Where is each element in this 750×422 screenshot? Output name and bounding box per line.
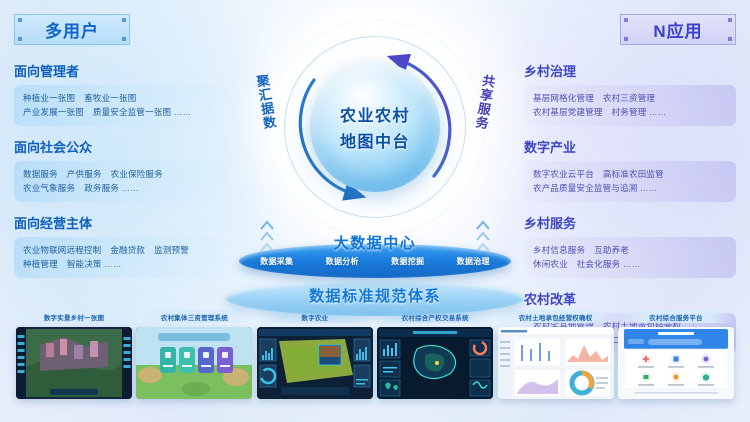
standards-title: 数据标准规范体系 xyxy=(248,285,502,306)
thumbnail-image-aerial-village xyxy=(16,327,132,399)
item-tag: 农业保险服务 xyxy=(111,169,163,179)
item-tag: 产业发展一张图 xyxy=(23,107,84,117)
item-tag: 产供服务 xyxy=(67,169,102,179)
left-panel: 多用户 面向管理者 种植业一张图畜牧业一张图 产业发展一张图质量安全监管一张图 … xyxy=(14,14,226,289)
item-tag: 乡村信息服务 xyxy=(533,245,585,255)
item-row: 数据服务产供服务农业保险服务 xyxy=(23,167,217,181)
item-row: 农村基层党建管理村务管理 …… xyxy=(533,105,727,119)
item-tag: 社会化服务 …… xyxy=(577,259,640,269)
thumbnail-image-light-chart-dashboard xyxy=(498,327,614,399)
data-center-tag-list: 数据采集 数据分析 数据挖掘 数据治理 xyxy=(244,253,506,269)
item-tag: 基层网格化管理 xyxy=(533,93,594,103)
thumbnail-item[interactable]: 农村综合服务平台 xyxy=(618,310,734,399)
right-group-items: 乡村信息服务互助养老 休闲农业社会化服务 …… xyxy=(524,237,736,278)
thumbnail-item[interactable]: 数字实景乡村一张图 xyxy=(16,310,132,399)
item-tag: 村务管理 …… xyxy=(612,107,667,117)
item-tag: 质量安全监管一张图 …… xyxy=(93,107,191,117)
thumbnail-image-dark-globe-dashboard xyxy=(377,327,493,399)
right-group-items: 数字农业云平台高标准农田监管 农产品质量安全监管与追溯 …… xyxy=(524,161,736,202)
hub-core-line1: 农业农村 xyxy=(340,102,410,126)
right-group-rural-service: 乡村服务 乡村信息服务互助养老 休闲农业社会化服务 …… xyxy=(524,213,736,278)
badge-corner-tick xyxy=(18,18,22,22)
badge-corner-tick xyxy=(728,18,732,22)
hub-core: 农业农村 地图中台 xyxy=(310,62,440,192)
item-tag: 高标准农田监管 xyxy=(603,169,664,179)
item-tag: 农业气象服务 xyxy=(23,183,75,193)
item-row: 乡村信息服务互助养老 xyxy=(533,243,727,257)
infographic-root: 多用户 面向管理者 种植业一张图畜牧业一张图 产业发展一张图质量安全监管一张图 … xyxy=(0,0,750,422)
left-group-items: 农业物联网远程控制金融贷款监测预警 种植管理智能决策 …… xyxy=(14,237,226,278)
item-tag: 政务服务 …… xyxy=(84,183,139,193)
right-group-items: 基层网格化管理农村三资管理 农村基层党建管理村务管理 …… xyxy=(524,85,736,126)
data-center-tag: 数据治理 xyxy=(457,256,490,267)
item-tag: 农村三资管理 xyxy=(603,93,655,103)
badge-corner-tick xyxy=(728,37,732,41)
thumbnail-image-green-field-cards xyxy=(136,327,252,399)
thumbnail-item[interactable]: 数字农业 xyxy=(257,310,373,399)
item-tag: 数字农业云平台 xyxy=(533,169,594,179)
left-group-title: 面向社会公众 xyxy=(14,137,226,156)
item-tag: 种植业一张图 xyxy=(23,93,75,103)
item-tag: 畜牧业一张图 xyxy=(84,93,136,103)
right-panel-badge-label: N应用 xyxy=(653,17,702,42)
right-panel-badge: N应用 xyxy=(620,14,736,45)
right-group-title: 乡村服务 xyxy=(524,213,736,232)
item-tag: 农村基层党建管理 xyxy=(533,107,603,117)
left-panel-badge: 多用户 xyxy=(14,14,130,45)
center-hub: 农业农村 地图中台 聚汇据数 共享服务 大数据中心 数据采集 数据分析 数据挖掘… xyxy=(248,8,502,308)
item-row: 种植业一张图畜牧业一张图 xyxy=(23,91,217,105)
item-row: 种植管理智能决策 …… xyxy=(23,257,217,271)
left-group-title: 面向经营主体 xyxy=(14,213,226,232)
right-group-digital-industry: 数字产业 数字农业云平台高标准农田监管 农产品质量安全监管与追溯 …… xyxy=(524,137,736,202)
item-tag: 农产品质量安全监管与追溯 …… xyxy=(533,183,657,193)
left-group-items: 数据服务产供服务农业保险服务 农业气象服务政务服务 …… xyxy=(14,161,226,202)
badge-corner-tick xyxy=(624,18,628,22)
item-tag: 农业物联网远程控制 xyxy=(23,245,101,255)
item-row: 农业物联网远程控制金融贷款监测预警 xyxy=(23,243,217,257)
thumbnail-strip: 数字实景乡村一张图 xyxy=(0,310,750,422)
thumbnail-image-dark-map-dashboard xyxy=(257,327,373,399)
item-row: 数字农业云平台高标准农田监管 xyxy=(533,167,727,181)
thumbnail-item[interactable]: 农村集体三资管理系统 xyxy=(136,310,252,399)
badge-corner-tick xyxy=(122,18,126,22)
left-group-managers: 面向管理者 种植业一张图畜牧业一张图 产业发展一张图质量安全监管一张图 …… xyxy=(14,61,226,126)
right-group-title: 数字产业 xyxy=(524,137,736,156)
thumbnail-label: 农村综合服务平台 xyxy=(618,310,734,323)
right-group-title: 乡村治理 xyxy=(524,61,736,80)
left-group-operators: 面向经营主体 农业物联网远程控制金融贷款监测预警 种植管理智能决策 …… xyxy=(14,213,226,278)
item-row: 农产品质量安全监管与追溯 …… xyxy=(533,181,727,195)
item-row: 农业气象服务政务服务 …… xyxy=(23,181,217,195)
thumbnail-item[interactable]: 农村土地承包经营权确权 xyxy=(498,310,614,399)
badge-corner-tick xyxy=(624,37,628,41)
item-row: 产业发展一张图质量安全监管一张图 …… xyxy=(23,105,217,119)
item-row: 基层网格化管理农村三资管理 xyxy=(533,91,727,105)
hub-core-line2: 地图中台 xyxy=(340,128,410,152)
data-center-tag: 数据分析 xyxy=(326,256,359,267)
left-group-title: 面向管理者 xyxy=(14,61,226,80)
item-tag: 休闲农业 xyxy=(533,259,568,269)
item-row: 休闲农业社会化服务 …… xyxy=(533,257,727,271)
item-tag: 监测预警 xyxy=(154,245,189,255)
left-group-public: 面向社会公众 数据服务产供服务农业保险服务 农业气象服务政务服务 …… xyxy=(14,137,226,202)
data-center-tag: 数据采集 xyxy=(260,256,293,267)
thumbnail-label: 农村土地承包经营权确权 xyxy=(498,310,614,323)
right-group-title: 农村改革 xyxy=(524,289,736,308)
left-group-items: 种植业一张图畜牧业一张图 产业发展一张图质量安全监管一张图 …… xyxy=(14,85,226,126)
badge-corner-tick xyxy=(122,37,126,41)
item-tag: 种植管理 xyxy=(23,259,58,269)
item-tag: 互助养老 xyxy=(594,245,629,255)
thumbnail-item[interactable]: 农村综合产权交易系统 xyxy=(377,310,493,399)
badge-corner-tick xyxy=(18,37,22,41)
thumbnail-label: 农村集体三资管理系统 xyxy=(136,310,252,323)
item-tag: 智能决策 …… xyxy=(67,259,122,269)
right-group-governance: 乡村治理 基层网格化管理农村三资管理 农村基层党建管理村务管理 …… xyxy=(524,61,736,126)
item-tag: 金融贷款 xyxy=(110,245,145,255)
item-tag: 数据服务 xyxy=(23,169,58,179)
thumbnail-label: 数字实景乡村一张图 xyxy=(16,310,132,323)
data-center-tag: 数据挖掘 xyxy=(391,256,424,267)
data-center-title: 大数据中心 xyxy=(248,232,502,253)
left-panel-badge-label: 多用户 xyxy=(45,17,99,42)
thumbnail-image-light-service-icons xyxy=(618,327,734,399)
